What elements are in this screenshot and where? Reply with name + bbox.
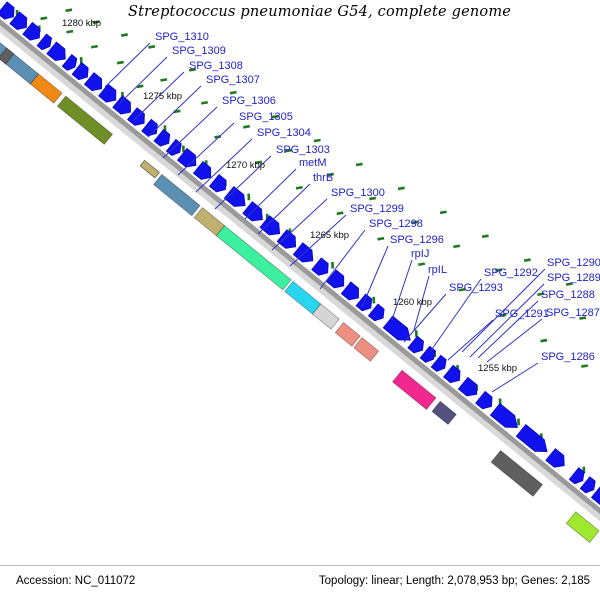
ruler-tick-label-3: 1265 kbp: [310, 230, 349, 241]
gene-label-SPG_1310[interactable]: SPG_1310: [155, 32, 209, 43]
status-bar: Accession: NC_011072 Topology: linear; L…: [0, 565, 600, 600]
feature-tick-32: [453, 246, 460, 247]
leader-line-SPG_1300: [272, 199, 327, 250]
feature-tick-25: [337, 213, 344, 214]
genome-viewer[interactable]: Streptococcus pneumoniae G54, complete g…: [0, 0, 600, 600]
feature-tick-21: [314, 140, 321, 141]
domain-segment-salmon-1[interactable]: [335, 323, 360, 347]
feature-tick-15: [230, 92, 237, 93]
gene-label-SPG_1291[interactable]: SPG_1291: [495, 309, 549, 320]
domain-segment-tan-1[interactable]: [140, 160, 159, 177]
feature-tick-17: [243, 126, 250, 127]
leader-line-rpIJ: [392, 260, 412, 320]
feature-tick-22: [296, 187, 303, 188]
feature-tick-30: [440, 212, 447, 213]
feature-tick-24: [356, 164, 363, 165]
ruler-tick-label-4: 1260 kbp: [393, 297, 432, 308]
gene-arrow[interactable]: [569, 468, 584, 484]
gene-label-SPG_1292[interactable]: SPG_1292: [484, 268, 538, 279]
gene-arrow[interactable]: [458, 377, 476, 395]
gene-label-SPG_1289[interactable]: SPG_1289: [547, 273, 600, 284]
gene-label-SPG_1309[interactable]: SPG_1309: [172, 46, 226, 57]
gene-label-SPG_1305[interactable]: SPG_1305: [239, 112, 293, 123]
ruler-tick-label-2: 1270 kbp: [226, 160, 265, 171]
feature-tick-6: [91, 46, 98, 47]
feature-tick-9: [148, 46, 155, 47]
genome-track-canvas[interactable]: [0, 0, 600, 600]
gene-label-SPG_1290[interactable]: SPG_1290: [547, 258, 600, 269]
gene-label-SPG_1299[interactable]: SPG_1299: [350, 204, 404, 215]
ruler-tick-label-1: 1275 kbp: [143, 91, 182, 102]
gene-label-SPG_1308[interactable]: SPG_1308: [189, 61, 243, 72]
gene-label-rpIJ[interactable]: rpIJ: [411, 249, 429, 260]
ruler-tick-label-0: 1280 kbp: [62, 18, 101, 29]
feature-tick-3: [66, 10, 73, 11]
feature-tick-31: [418, 264, 425, 265]
gene-arrow[interactable]: [546, 449, 564, 467]
gene-label-SPG_1304[interactable]: SPG_1304: [257, 128, 311, 139]
small-feature-tick-group: [21, 0, 600, 418]
feature-tick-43: [581, 366, 588, 367]
feature-tick-33: [482, 236, 489, 237]
feature-tick-27: [398, 188, 405, 189]
domain-segment-salmon-2[interactable]: [354, 338, 379, 362]
leader-line-SPG_1287: [487, 319, 542, 362]
gene-label-SPG_1306[interactable]: SPG_1306: [222, 96, 276, 107]
feature-tick-28: [378, 238, 385, 239]
feature-tick-11: [160, 79, 167, 80]
feature-tick-40: [541, 340, 548, 341]
gene-arrow[interactable]: [260, 216, 280, 235]
leader-line-SPG_1291: [448, 320, 493, 360]
gene-label-rpIL[interactable]: rpIL: [428, 265, 447, 276]
feature-tick-36: [524, 260, 531, 261]
gene-label-SPG_1296[interactable]: SPG_1296: [390, 235, 444, 246]
feature-tick-4: [66, 31, 73, 32]
feature-tick-2: [41, 18, 48, 19]
domain-segment-olive-1[interactable]: [57, 96, 112, 144]
feature-tick-7: [121, 34, 128, 35]
gene-arrow[interactable]: [476, 392, 492, 409]
feature-tick-14: [201, 102, 208, 103]
gene-label-SPG_1298[interactable]: SPG_1298: [369, 219, 423, 230]
gene-label-thrB[interactable]: thrB: [313, 173, 333, 184]
gene-arrow[interactable]: [327, 270, 344, 288]
gene-arrow[interactable]: [0, 2, 14, 19]
domain-segment-slate-1[interactable]: [432, 401, 456, 424]
gene-label-SPG_1287[interactable]: SPG_1287: [546, 308, 600, 319]
domain-segment-group[interactable]: [0, 29, 599, 543]
gene-label-metM[interactable]: metM: [299, 158, 327, 169]
gene-label-SPG_1288[interactable]: SPG_1288: [541, 290, 595, 301]
gene-label-SPG_1293[interactable]: SPG_1293: [449, 283, 503, 294]
gene-arrow[interactable]: [293, 243, 313, 262]
gene-label-SPG_1307[interactable]: SPG_1307: [206, 75, 260, 86]
status-sequence-info: Topology: linear; Length: 2,078,953 bp; …: [319, 575, 590, 587]
gene-arrow[interactable]: [277, 230, 295, 248]
feature-tick-8: [117, 62, 124, 63]
gene-arrow[interactable]: [312, 258, 328, 275]
gene-label-SPG_1303[interactable]: SPG_1303: [276, 145, 330, 156]
leader-line-metM: [245, 169, 296, 219]
status-accession: Accession: NC_011072: [16, 575, 135, 587]
page-title: Streptococcus pneumoniae G54, complete g…: [128, 4, 511, 20]
gene-label-SPG_1286[interactable]: SPG_1286: [541, 352, 595, 363]
gene-arrow-group[interactable]: [0, 2, 600, 509]
gene-label-SPG_1300[interactable]: SPG_1300: [331, 188, 385, 199]
leader-line-thrB: [258, 184, 310, 234]
ruler-tick-label-5: 1255 kbp: [478, 363, 517, 374]
